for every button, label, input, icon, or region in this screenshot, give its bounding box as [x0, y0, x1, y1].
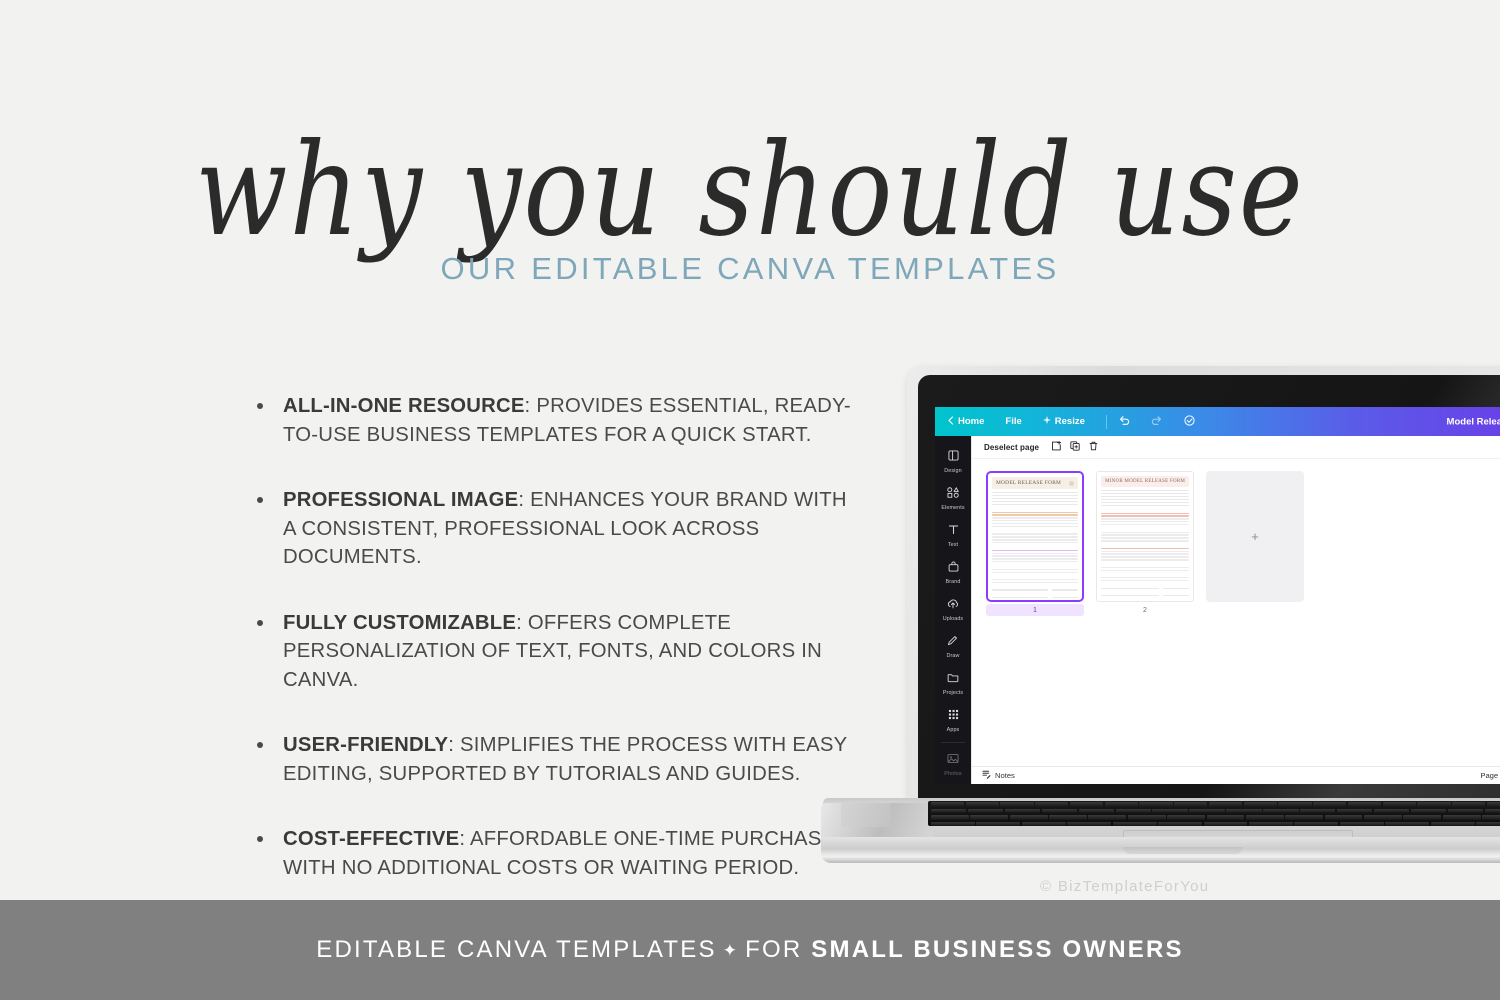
benefit-term: FULLY CUSTOMIZABLE: [283, 612, 516, 634]
footer-lead: EDITABLE CANVA TEMPLATES: [316, 936, 716, 963]
form-paragraph-line: [1101, 540, 1189, 541]
resize-button[interactable]: Resize: [1043, 416, 1085, 427]
form-paragraph-line: [1101, 570, 1189, 571]
text-t-icon: [948, 522, 959, 540]
sidebar-label: Brand: [946, 579, 961, 585]
form-paragraph-line: [1101, 524, 1189, 525]
sidebar-item-photos[interactable]: Photos: [935, 745, 971, 782]
apps-grid-icon: [948, 707, 959, 725]
sidebar-item-design[interactable]: Design: [935, 442, 971, 479]
spacer: [992, 585, 1078, 588]
brand-bag-icon: [948, 559, 959, 577]
form-badge-icon: [1069, 481, 1074, 486]
sidebar-item-projects[interactable]: Projects: [935, 664, 971, 701]
sidebar-label: Text: [948, 542, 958, 548]
page-card-2[interactable]: MINOR MODEL RELEASE FORM: [1096, 471, 1194, 616]
form-paragraph-line: [1101, 513, 1189, 514]
form-paragraph-line: [992, 514, 1078, 515]
list-item: FULLY CUSTOMIZABLE: OFFERS COMPLETE PERS…: [252, 609, 862, 695]
page-toolbar: Deselect page: [972, 436, 1500, 459]
form-paragraph-line: [1101, 559, 1189, 560]
document-title: Model Release F: [1447, 416, 1500, 427]
canva-workspace: Design Elements Text: [935, 436, 1500, 784]
form-paragraph-line: [1101, 537, 1189, 538]
sidebar-label: Apps: [947, 727, 960, 733]
form-header: MINOR MODEL RELEASE FORM: [1101, 476, 1189, 487]
key-row: [928, 808, 1500, 815]
signature-row: [992, 597, 1078, 598]
form-field-line: [1101, 499, 1189, 500]
spacer: [992, 592, 1078, 595]
spacer: [992, 507, 1078, 510]
toolbar-divider: [1106, 415, 1107, 429]
sidebar-label: Uploads: [943, 616, 963, 622]
form-paragraph-line: [992, 536, 1078, 537]
add-page-icon[interactable]: [1051, 441, 1061, 453]
cloud-saved-icon: [1183, 415, 1196, 429]
form-paragraph-line: [1101, 532, 1189, 533]
sidebar-item-elements[interactable]: Elements: [935, 479, 971, 516]
watermark-text: BizTemplateForYou: [1058, 878, 1210, 895]
photos-image-icon: [947, 751, 959, 769]
sidebar-item-uploads[interactable]: Uploads: [935, 590, 971, 627]
signature-row: [1101, 595, 1189, 596]
list-item: ALL-IN-ONE RESOURCE: PROVIDES ESSENTIAL,…: [252, 392, 862, 449]
form-field-line: [992, 495, 1078, 496]
sidebar-item-text[interactable]: Text: [935, 516, 971, 553]
form-paragraph-line: [1101, 580, 1189, 581]
signature-row: [1101, 588, 1189, 589]
cloud-saved-button[interactable]: [1183, 415, 1196, 429]
footer-emphasis: SMALL BUSINESS OWNERS: [811, 936, 1183, 963]
page-number-label: 2: [1096, 604, 1194, 616]
form-paragraph-line: [1101, 556, 1189, 557]
form-paragraph-line: [992, 579, 1078, 580]
file-label: File: [1005, 416, 1021, 427]
form-title: MODEL RELEASE FORM: [996, 480, 1061, 486]
page-number-label: 1: [986, 604, 1084, 616]
spacer: [992, 574, 1078, 577]
minor-model-release-form-preview: MINOR MODEL RELEASE FORM: [1097, 472, 1193, 601]
form-paragraph-line: [1101, 548, 1189, 549]
model-release-form-preview: MODEL RELEASE FORM: [988, 473, 1082, 600]
benefit-term: COST-EFFECTIVE: [283, 828, 459, 850]
sidebar-label: Projects: [943, 690, 963, 696]
add-page-card[interactable]: +: [1206, 471, 1304, 602]
notes-button[interactable]: Notes: [982, 770, 1015, 781]
footer-banner: EDITABLE CANVA TEMPLATES✦FOR SMALL BUSIN…: [0, 900, 1500, 1000]
form-field-line: [1101, 502, 1189, 503]
spacer: [1101, 508, 1189, 511]
page-thumbnail[interactable]: MODEL RELEASE FORM: [986, 471, 1084, 602]
spacer: [1101, 583, 1189, 586]
form-paragraph-line: [992, 555, 1078, 556]
signature-line: [1101, 588, 1159, 589]
resize-label: Resize: [1055, 416, 1085, 427]
sidebar-label: Photos: [944, 771, 961, 777]
form-paragraph-line: [992, 553, 1078, 554]
poster-canvas: why you should use OUR EDITABLE CANVA TE…: [0, 0, 1500, 1000]
date-line: [1052, 589, 1078, 590]
sidebar-label: Elements: [941, 505, 964, 511]
notes-icon: [982, 770, 991, 781]
form-field-line: [1101, 490, 1189, 491]
form-body: [1101, 490, 1189, 596]
date-line: [1163, 595, 1189, 596]
form-paragraph-line: [992, 542, 1078, 543]
bullet-dot-icon: [257, 836, 263, 842]
form-paragraph-line: [992, 558, 1078, 559]
form-field-line: [1101, 496, 1189, 497]
list-item: COST-EFFECTIVE: AFFORDABLE ONE-TIME PURC…: [252, 825, 862, 882]
form-field-line: [992, 492, 1078, 493]
form-paragraph-line: [992, 539, 1078, 540]
form-paragraph-line: [1101, 577, 1189, 578]
spacer: [992, 529, 1078, 532]
copyright-icon: ©: [1040, 878, 1052, 895]
notes-label: Notes: [995, 771, 1015, 780]
form-paragraph-line: [992, 533, 1078, 534]
bullet-dot-icon: [257, 620, 263, 626]
page-subtitle: OUR EDITABLE CANVA TEMPLATES: [0, 251, 1500, 287]
spacer: [992, 545, 1078, 548]
form-paragraph-line: [992, 550, 1078, 551]
key-row: [928, 801, 1500, 808]
list-item: USER-FRIENDLY: SIMPLIFIES THE PROCESS WI…: [252, 731, 862, 788]
pages-grid: MODEL RELEASE FORM: [972, 459, 1500, 766]
spacer: [1101, 543, 1189, 546]
form-header: MODEL RELEASE FORM: [992, 477, 1078, 489]
diamond-icon: ✦: [723, 941, 739, 960]
duplicate-page-icon[interactable]: [1070, 441, 1080, 453]
form-field-line: [992, 501, 1078, 502]
plus-icon[interactable]: +: [1206, 471, 1304, 602]
file-menu-button[interactable]: File: [1005, 416, 1021, 427]
form-paragraph-line: [992, 520, 1078, 521]
sidebar-item-apps[interactable]: Apps: [935, 701, 971, 738]
form-paragraph-line: [1101, 521, 1189, 522]
back-button[interactable]: Home: [947, 416, 984, 428]
canva-main-area: Deselect page: [971, 436, 1500, 784]
page-title: why you should use: [0, 128, 1500, 255]
undo-button[interactable]: [1119, 415, 1130, 428]
upload-cloud-icon: [947, 596, 959, 614]
redo-button[interactable]: [1151, 415, 1162, 428]
form-paragraph-line: [1101, 567, 1189, 568]
form-paragraph-line: [992, 523, 1078, 524]
laptop-base-notch: [1123, 847, 1243, 854]
sidebar-item-draw[interactable]: Draw: [935, 627, 971, 664]
laptop-base: [823, 798, 1500, 871]
form-paragraph-line: [992, 526, 1078, 527]
sidebar-label: Draw: [947, 653, 960, 659]
footer-middle: FOR: [745, 936, 802, 963]
form-paragraph-line: [992, 572, 1078, 573]
bullet-dot-icon: [257, 403, 263, 409]
spacer: [992, 564, 1078, 567]
sidebar-item-brand[interactable]: Brand: [935, 553, 971, 590]
benefit-term: PROFESSIONAL IMAGE: [283, 489, 518, 511]
laptop-mockup: Home File Resize: [823, 366, 1500, 871]
date-line: [1163, 588, 1189, 589]
benefit-term: USER-FRIENDLY: [283, 734, 448, 756]
sparkle-icon: [1043, 416, 1051, 427]
deselect-page-button[interactable]: Deselect page: [984, 443, 1039, 452]
page-thumbnail[interactable]: MINOR MODEL RELEASE FORM: [1096, 471, 1194, 602]
spacer: [1101, 562, 1189, 565]
bullet-dot-icon: [257, 742, 263, 748]
signature-line: [992, 597, 1048, 598]
benefit-term: ALL-IN-ONE RESOURCE: [283, 395, 525, 417]
page-indicator: Page 1 / 2: [1480, 771, 1500, 780]
list-item: PROFESSIONAL IMAGE: ENHANCES YOUR BRAND …: [252, 486, 862, 572]
laptop-base-left-panel: [841, 803, 891, 827]
spacer: [1101, 527, 1189, 530]
spacer: [1101, 590, 1189, 593]
key-row: [928, 821, 1500, 826]
form-field-line: [992, 498, 1078, 499]
form-paragraph-line: [1101, 553, 1189, 554]
canva-top-toolbar: Home File Resize: [935, 407, 1500, 436]
form-title: MINOR MODEL RELEASE FORM: [1105, 479, 1185, 484]
laptop-screen: Home File Resize: [935, 407, 1500, 784]
undo-icon: [1119, 415, 1130, 428]
date-line: [1052, 597, 1078, 598]
sidebar-label: Design: [944, 468, 961, 474]
footer-text: EDITABLE CANVA TEMPLATES✦FOR SMALL BUSIN…: [316, 936, 1184, 964]
form-paragraph-line: [992, 569, 1078, 570]
bullet-dot-icon: [257, 497, 263, 503]
form-paragraph-line: [992, 512, 1078, 513]
design-panel-icon: [948, 448, 959, 466]
redo-icon: [1151, 415, 1162, 428]
form-paragraph-line: [992, 582, 1078, 583]
form-field-line: [992, 504, 1078, 505]
page-card-1[interactable]: MODEL RELEASE FORM: [986, 471, 1084, 616]
signature-row: [992, 589, 1078, 590]
laptop-keyboard: [928, 801, 1500, 826]
canva-sidebar: Design Elements Text: [935, 436, 971, 784]
sidebar-divider: [941, 742, 965, 743]
form-paragraph-line: [1101, 515, 1189, 516]
form-paragraph-line: [1101, 534, 1189, 535]
form-paragraph-line: [992, 561, 1078, 562]
form-paragraph-line: [1101, 551, 1189, 552]
trash-icon[interactable]: [1089, 441, 1098, 453]
key-row: [928, 814, 1500, 821]
draw-pen-icon: [947, 633, 959, 651]
signature-line: [992, 589, 1048, 590]
form-body: [992, 492, 1078, 598]
chevron-left-icon: [947, 416, 954, 428]
spacer: [1101, 573, 1189, 576]
form-field-line: [1101, 493, 1189, 494]
form-paragraph-line: [992, 517, 1078, 518]
home-label: Home: [958, 416, 984, 427]
form-field-line: [1101, 505, 1189, 506]
watermark: © BizTemplateForYou: [1040, 878, 1209, 895]
signature-line: [1101, 595, 1159, 596]
benefits-list: ALL-IN-ONE RESOURCE: PROVIDES ESSENTIAL,…: [252, 392, 862, 882]
canva-status-bar: Notes Page 1 / 2: [972, 766, 1500, 784]
elements-shapes-icon: [947, 485, 959, 503]
form-paragraph-line: [1101, 518, 1189, 519]
projects-folder-icon: [947, 670, 959, 688]
